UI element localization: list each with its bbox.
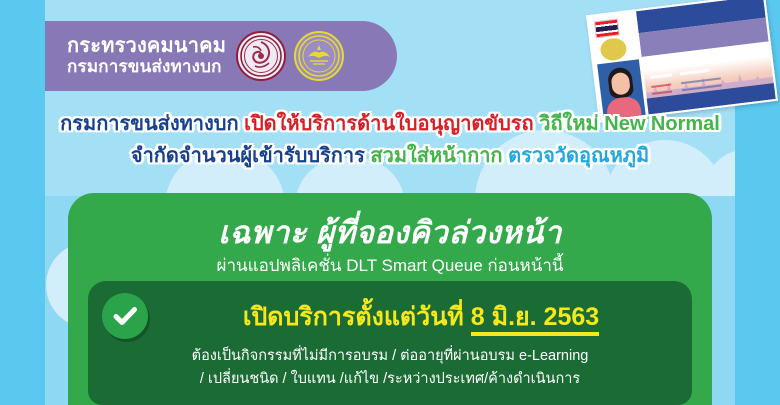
- date-value: 8 มิ.ย. 2563: [471, 303, 599, 336]
- headline-line-2: จำกัดจำนวนผู้เข้ารับบริการ สวมใส่หน้ากาก…: [45, 140, 735, 172]
- headline-segment-mask: สวมใส่หน้ากาก: [370, 145, 502, 167]
- headline-segment-newnormal: วิถีใหม่ New Normal: [539, 113, 720, 135]
- headline-segment-limit: จำกัดจำนวนผู้เข้ารับบริการ: [131, 145, 365, 167]
- eligibility-note-line-2: / เปลี่ยนชนิด / ใบแทน /แก้ไข /ระหว่างประ…: [88, 368, 692, 391]
- dark-green-info-panel: เปิดบริการตั้งแต่วันที่ 8 มิ.ย. 2563 ต้อ…: [88, 281, 692, 405]
- infographic-poster: กระทรวงคมนาคม กรมการขนส่งทางบก: [0, 0, 780, 405]
- date-prefix-label: เปิดบริการตั้งแต่วันที่: [243, 303, 464, 331]
- main-green-panel: เฉพาะ ผู้ที่จองคิวล่วงหน้า ผ่านแอปพลิเคช…: [68, 193, 712, 405]
- ministry-of-transport-seal-icon: [236, 31, 286, 81]
- license-card-right-side: [636, 0, 776, 114]
- eligibility-note-line-1: ต้องเป็นกิจกรรมที่ไม่มีการอบรม / ต่ออายุ…: [88, 345, 692, 368]
- headline-segment-department: กรมการขนส่งทางบก: [60, 113, 238, 135]
- check-circle-icon: [102, 293, 148, 339]
- eligibility-notes: ต้องเป็นกิจกรรมที่ไม่มีการอบรม / ต่ออายุ…: [88, 345, 692, 392]
- ministry-name: กระทรวงคมนาคม: [67, 36, 226, 58]
- panel-title: เฉพาะ ผู้ที่จองคิวล่วงหน้า: [68, 207, 712, 257]
- headline-segment-service: เปิดให้บริการด้านใบอนุญาตขับรถ: [244, 113, 534, 135]
- headline-block: กรมการขนส่งทางบก เปิดให้บริการด้านใบอนุญ…: [45, 108, 735, 173]
- service-start-date-line: เปิดบริการตั้งแต่วันที่ 8 มิ.ย. 2563: [160, 297, 682, 337]
- thai-flag-icon: [594, 19, 620, 39]
- ministry-text-block: กระทรวงคมนาคม กรมการขนส่งทางบก: [67, 36, 226, 76]
- ministry-header-bar: กระทรวงคมนาคม กรมการขนส่งทางบก: [45, 21, 397, 91]
- garuda-emblem-icon: [599, 37, 627, 62]
- seal-group: [236, 31, 344, 81]
- headline-line-1: กรมการขนส่งทางบก เปิดให้บริการด้านใบอนุญ…: [45, 108, 735, 140]
- department-name: กรมการขนส่งทางบก: [67, 58, 226, 76]
- panel-subtitle: ผ่านแอปพลิเคชั่น DLT Smart Queue ก่อนหน้…: [68, 252, 712, 279]
- department-of-land-transport-seal-icon: [294, 31, 344, 81]
- headline-segment-temperature: ตรวจวัดอุณหภูมิ: [508, 145, 649, 167]
